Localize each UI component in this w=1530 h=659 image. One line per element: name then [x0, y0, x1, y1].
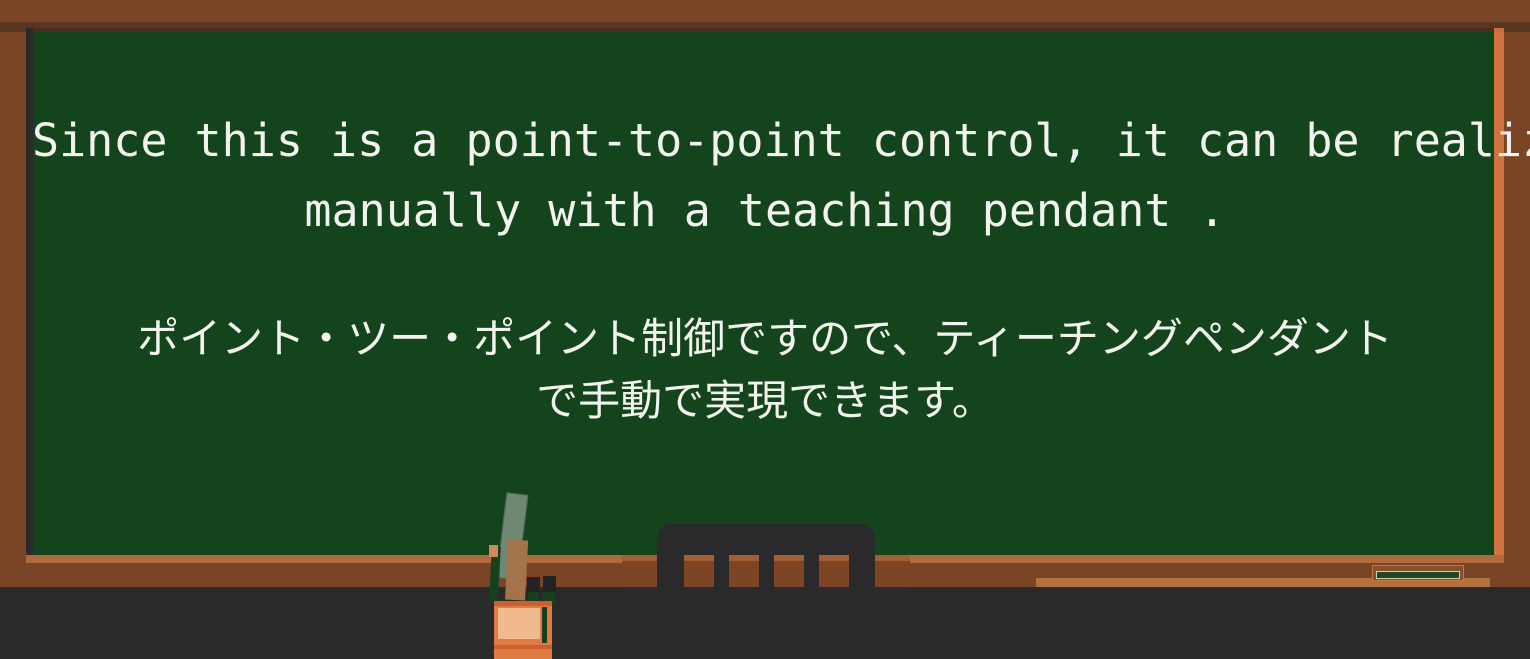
chair-slat [684, 555, 714, 587]
desk-panel-left [622, 555, 657, 587]
pencil-cup-icon [494, 601, 552, 659]
board-top-edge [26, 28, 1504, 32]
board-left-edge [26, 28, 33, 557]
chair-slat [774, 555, 804, 587]
chair-slat [729, 555, 759, 587]
cup-label [498, 608, 540, 639]
chalkboard-frame [26, 28, 1504, 557]
wooden-ruler-icon [505, 540, 528, 601]
chalkboard-scene: Since this is a point-to-point control, … [0, 0, 1530, 659]
cup-band [494, 645, 552, 649]
chair-slat [819, 555, 849, 587]
floor [0, 587, 1530, 659]
chalkboard-surface [33, 32, 1494, 557]
board-right-edge [1494, 28, 1504, 557]
pen-cap-icon [489, 545, 498, 557]
cup-pen-inside [542, 607, 547, 643]
desk-panel-right [875, 555, 910, 587]
chalkboard-eraser-icon [1372, 565, 1464, 581]
cup-rim [494, 601, 552, 606]
eraser-felt [1376, 571, 1460, 579]
